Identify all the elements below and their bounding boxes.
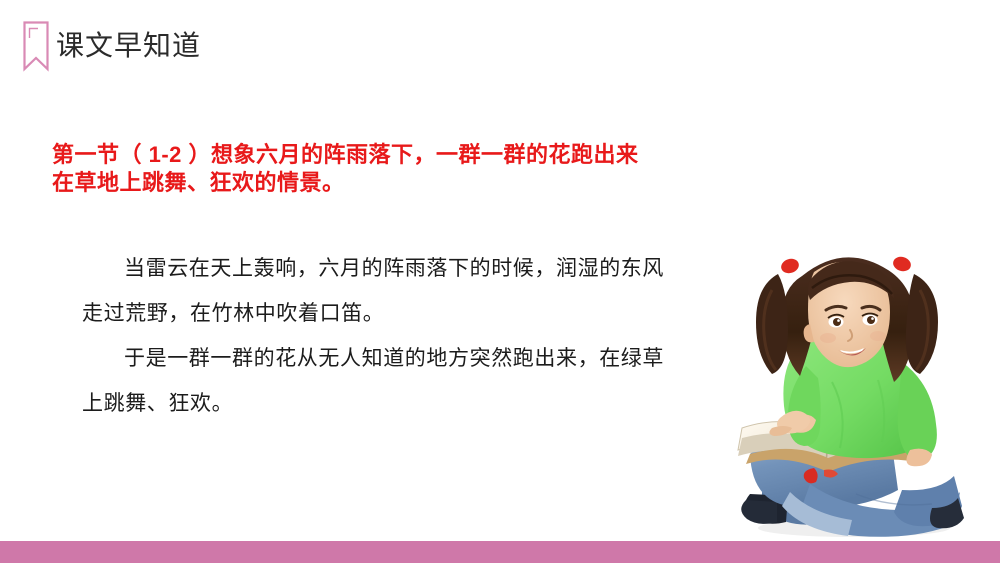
bookmark-ribbon-icon: [22, 20, 50, 72]
section-heading: 第一节（ 1-2 ）想象六月的阵雨落下，一群一群的花跑出来 在草地上跳舞、狂欢的…: [52, 141, 692, 197]
slide-header: 课文早知道: [0, 0, 1000, 90]
body-text-block: 当雷云在天上轰响，六月的阵雨落下的时候，润湿的东风走过荒野，在竹林中吹着口笛。 …: [82, 246, 682, 426]
bottom-accent-band: [0, 541, 1000, 563]
body-paragraph-1: 当雷云在天上轰响，六月的阵雨落下的时候，润湿的东风走过荒野，在竹林中吹着口笛。: [82, 246, 682, 336]
section-heading-line-1: 第一节（ 1-2 ）想象六月的阵雨落下，一群一群的花跑出来: [52, 141, 692, 169]
slide-root: 课文早知道 第一节（ 1-2 ）想象六月的阵雨落下，一群一群的花跑出来 在草地上…: [0, 0, 1000, 563]
page-title: 课文早知道: [56, 26, 201, 66]
body-paragraph-2: 于是一群一群的花从无人知道的地方突然跑出来，在绿草上跳舞、狂欢。: [82, 336, 682, 426]
girl-reading-book-photo: [706, 232, 998, 544]
section-heading-line-2: 在草地上跳舞、狂欢的情景。: [52, 169, 692, 197]
